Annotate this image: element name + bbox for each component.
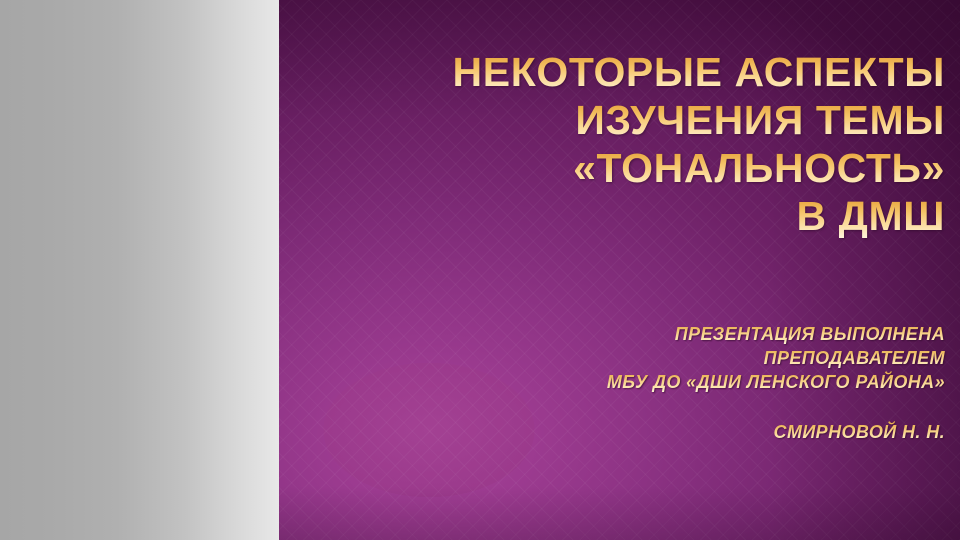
subtitle-line-1: ПРЕЗЕНТАЦИЯ ВЫПОЛНЕНА — [305, 322, 945, 346]
title-line-3: «ТОНАЛЬНОСТЬ» — [305, 144, 945, 192]
slide-subtitle: ПРЕЗЕНТАЦИЯ ВЫПОЛНЕНА ПРЕПОДАВАТЕЛЕМ МБУ… — [305, 322, 945, 444]
title-line-4: В ДМШ — [305, 192, 945, 240]
title-line-2: ИЗУЧЕНИЯ ТЕМЫ — [305, 96, 945, 144]
subtitle-line-4-author: СМИРНОВОЙ Н. Н. — [305, 420, 945, 444]
title-line-1: НЕКОТОРЫЕ АСПЕКТЫ — [305, 48, 945, 96]
slide-title: НЕКОТОРЫЕ АСПЕКТЫ ИЗУЧЕНИЯ ТЕМЫ «ТОНАЛЬН… — [305, 48, 945, 240]
subtitle-line-2: ПРЕПОДАВАТЕЛЕМ — [305, 346, 945, 370]
subtitle-line-3: МБУ ДО «ДШИ ЛЕНСКОГО РАЙОНА» — [305, 370, 945, 394]
left-gray-gradient-panel — [0, 0, 279, 540]
presentation-title-slide: НЕКОТОРЫЕ АСПЕКТЫ ИЗУЧЕНИЯ ТЕМЫ «ТОНАЛЬН… — [0, 0, 960, 540]
